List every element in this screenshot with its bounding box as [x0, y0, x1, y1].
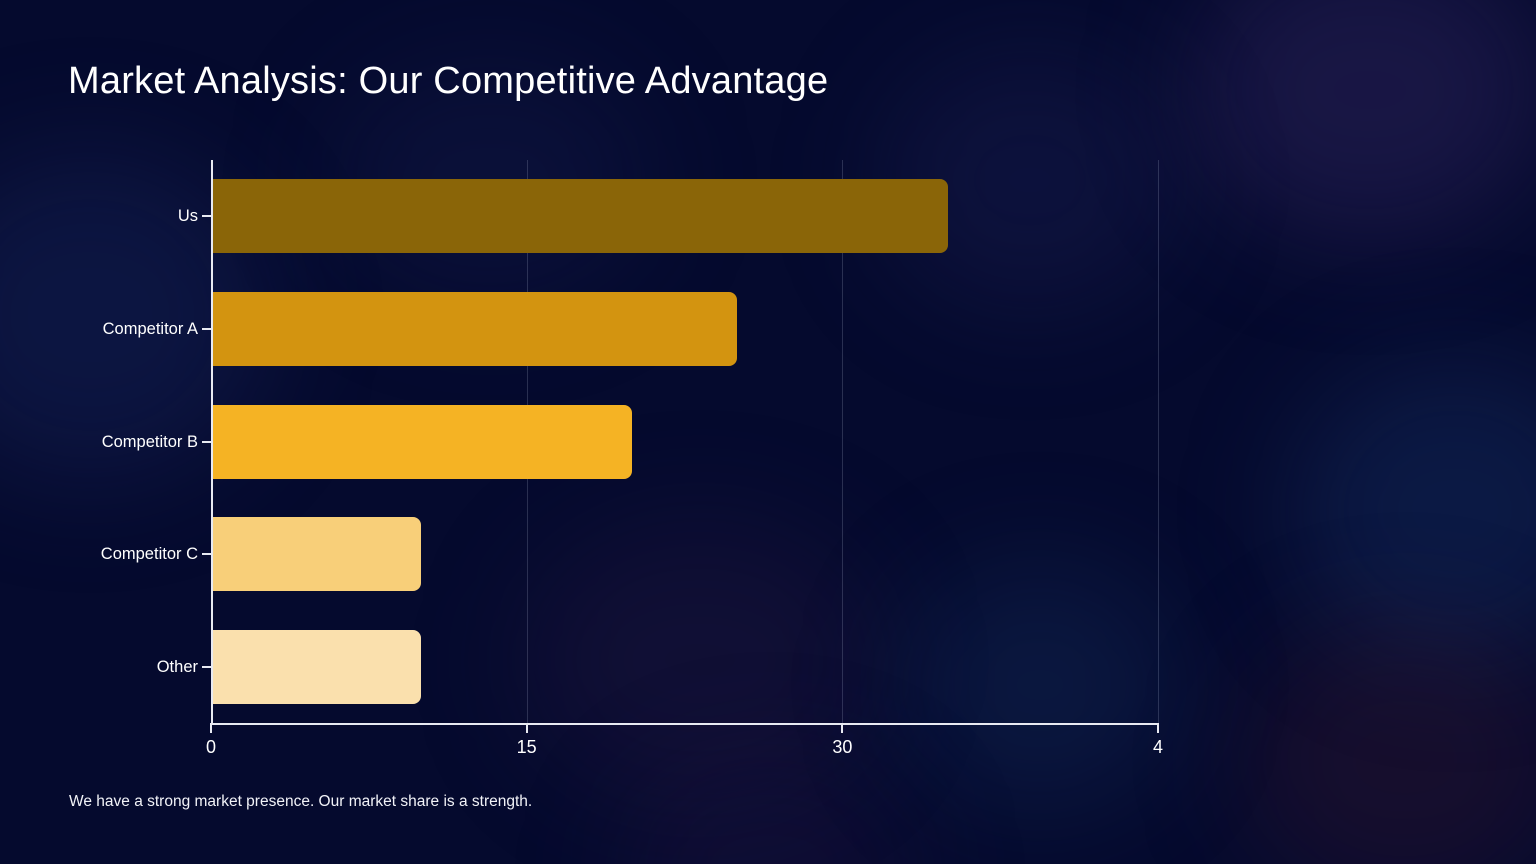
x-axis-tick-label: 0: [206, 736, 216, 758]
x-axis-tick-mark: [841, 723, 843, 733]
y-axis-spine: [211, 160, 213, 724]
y-axis-label-competitor-c: Competitor C: [101, 544, 198, 564]
bar-competitor-b[interactable]: [211, 405, 632, 479]
slide-caption: We have a strong market presence. Our ma…: [69, 791, 532, 813]
background-glow: [1190, 0, 1536, 240]
y-axis-label-competitor-b: Competitor B: [102, 432, 198, 452]
bar-us[interactable]: [211, 179, 948, 253]
x-axis-tick-label: 4: [1153, 736, 1163, 758]
gridline: [1158, 160, 1159, 723]
x-axis-tick-mark: [1157, 723, 1159, 733]
background-glow: [620, 760, 920, 864]
y-axis-tick-mark: [202, 666, 211, 668]
background-glow: [1290, 360, 1536, 660]
x-axis-tick-mark: [526, 723, 528, 733]
x-axis-spine: [211, 723, 1159, 725]
bar-competitor-a[interactable]: [211, 292, 737, 366]
bar-competitor-c[interactable]: [211, 517, 421, 591]
y-axis-tick-mark: [202, 441, 211, 443]
x-axis-tick-label: 30: [832, 736, 852, 758]
y-axis-tick-mark: [202, 553, 211, 555]
y-axis-label-us: Us: [178, 206, 198, 226]
y-axis-tick-mark: [202, 215, 211, 217]
x-axis-tick-mark: [210, 723, 212, 733]
slide-canvas: Market Analysis: Our Competitive Advanta…: [0, 0, 1536, 864]
bar-chart-plot-area: [211, 160, 1158, 723]
x-axis-tick-label: 15: [517, 736, 537, 758]
bar-other[interactable]: [211, 630, 421, 704]
y-axis-label-competitor-a: Competitor A: [103, 319, 198, 339]
slide-title: Market Analysis: Our Competitive Advanta…: [68, 57, 828, 105]
y-axis-label-other: Other: [157, 657, 198, 677]
y-axis-tick-mark: [202, 328, 211, 330]
background-glow: [1240, 620, 1536, 864]
